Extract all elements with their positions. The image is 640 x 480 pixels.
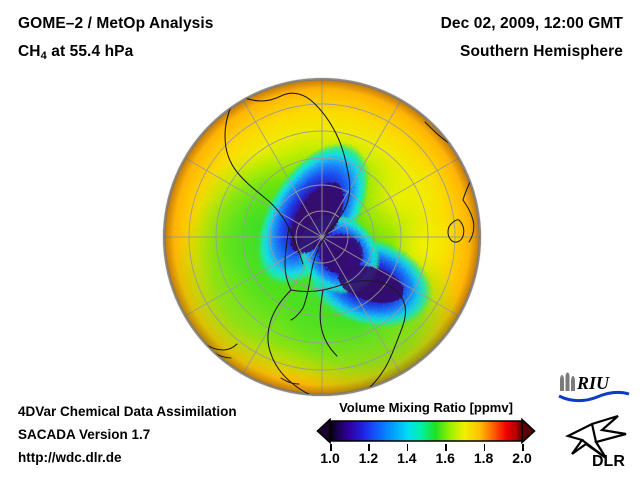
riu-wave-icon: [559, 392, 629, 400]
colorbar-tick-label: 1.8: [474, 450, 493, 466]
riu-logo: RIU: [557, 372, 631, 404]
visualization-page: GOME–2 / MetOp Analysis CH4 at 55.4 hPa …: [0, 0, 640, 480]
colorbar-tick-label: 1.6: [435, 450, 454, 466]
region-label: Southern Hemisphere: [460, 43, 623, 61]
species-level-label: CH4 at 55.4 hPa: [18, 43, 133, 62]
colorbar-tick-label: 1.2: [359, 450, 378, 466]
version-label: SACADA Version 1.7: [18, 427, 150, 442]
dlr-mark-icon: [568, 416, 626, 458]
colorbar-title: Volume Mixing Ratio [ppmv]: [316, 400, 536, 415]
method-label: 4DVar Chemical Data Assimilation: [18, 404, 237, 419]
riu-wordmark: RIU: [576, 373, 610, 393]
globe-svg: [163, 78, 481, 396]
url-label[interactable]: http://wdc.dlr.de: [18, 450, 122, 465]
riu-towers-icon: [560, 373, 575, 392]
species-prefix: CH: [18, 43, 41, 60]
globe-data-layer: [163, 78, 481, 396]
globe-map: [163, 78, 481, 396]
page-title: GOME–2 / MetOp Analysis: [18, 15, 214, 33]
colorbar: Volume Mixing Ratio [ppmv] 1.01.21.41.61…: [316, 400, 536, 472]
colorbar-tick-label: 1.0: [320, 450, 339, 466]
dlr-wordmark: DLR: [592, 453, 625, 468]
colorbar-left-arrow: [318, 420, 331, 443]
species-suffix: at 55.4 hPa: [47, 43, 134, 60]
colorbar-gradient: [316, 418, 536, 444]
colorbar-tick-label: 1.4: [397, 450, 416, 466]
datetime-label: Dec 02, 2009, 12:00 GMT: [441, 15, 623, 33]
riu-logo-svg: RIU: [557, 372, 631, 404]
colorbar-right-arrow: [522, 420, 535, 443]
colorbar-tick-label: 2.0: [512, 450, 531, 466]
dlr-logo: DLR: [562, 410, 632, 468]
colorbar-tick-labels: 1.01.21.41.61.82.0: [316, 450, 536, 472]
dlr-logo-svg: DLR: [562, 410, 632, 468]
globe-disc: [163, 78, 481, 396]
